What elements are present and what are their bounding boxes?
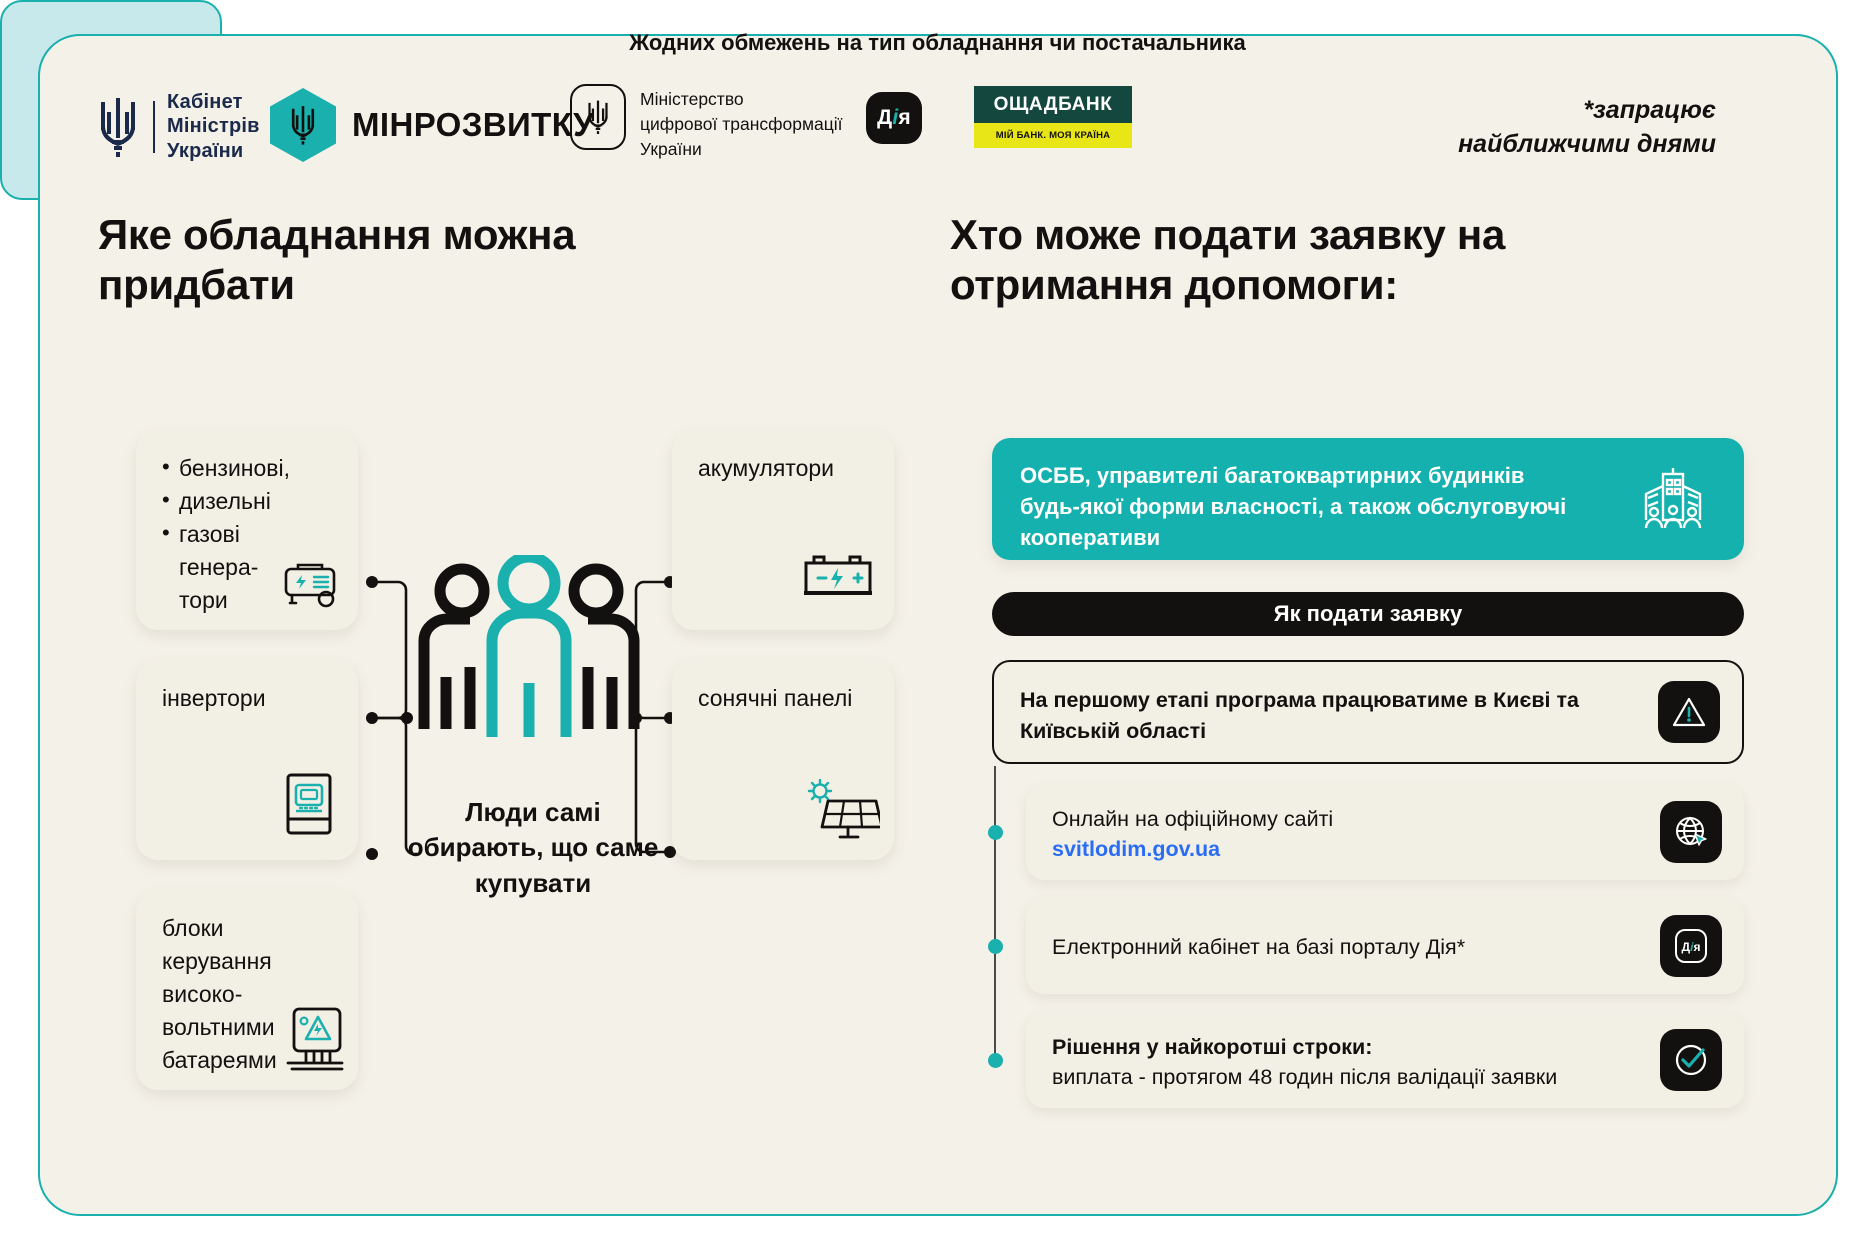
warning-triangle-icon bbox=[1658, 681, 1720, 743]
equipment-card-solar-panels: сонячні панелі bbox=[672, 660, 894, 860]
inverters-card-text: інвертори bbox=[162, 682, 342, 715]
left-column-heading: Яке обладнання можна придбати bbox=[98, 210, 738, 311]
list-item: газові bbox=[162, 518, 342, 551]
how-to-apply-label: Як подати заявку bbox=[1274, 601, 1462, 627]
oschadbank-name: ОЩАДБАНК bbox=[974, 86, 1132, 123]
timeline-dot bbox=[988, 1053, 1003, 1068]
eligibility-text: ОСББ, управителі багатоквартирних будинк… bbox=[1020, 460, 1580, 554]
equipment-card-generators: бензинові, дизельні газові генера- тори bbox=[136, 430, 358, 630]
oschadbank-logo: ОЩАДБАНК МІЙ БАНК. МОЯ КРАЇНА bbox=[974, 86, 1132, 148]
step-card-decision[interactable]: Рішення у найкоротші строки: виплата - п… bbox=[1026, 1012, 1744, 1108]
solar-panel-icon bbox=[798, 779, 880, 846]
ministry-digital-transformation-logo: Міністерство цифрової трансформації Укра… bbox=[570, 84, 843, 162]
step-card-diia-cabinet[interactable]: Електронний кабінет на базі порталу Дія*… bbox=[1026, 898, 1744, 994]
footnote-note: *запрацює найближчими днями bbox=[1458, 94, 1716, 161]
svg-text:Дія: Дія bbox=[1682, 940, 1701, 954]
solar-panels-card-text: сонячні панелі bbox=[698, 682, 878, 715]
logo-divider bbox=[153, 101, 155, 153]
generators-bullet-list: бензинові, дизельні газові bbox=[162, 452, 342, 551]
timeline-dot bbox=[988, 939, 1003, 954]
steps-timeline bbox=[994, 766, 996, 1054]
online-step-text: Онлайн на офіційному сайті svitlodim.gov… bbox=[1052, 804, 1632, 864]
cabinet-of-ministers-logo: Кабінет Міністрів України bbox=[95, 90, 260, 163]
ministry-logo-text: Міністерство цифрової трансформації Укра… bbox=[640, 84, 843, 162]
connector-left bbox=[360, 520, 420, 940]
generator-icon bbox=[278, 557, 344, 614]
step-card-stage-one: На першому етапі програма працюватиме в … bbox=[992, 660, 1744, 764]
ukraine-trident-hex-icon bbox=[270, 88, 336, 162]
ukraine-trident-icon bbox=[570, 84, 626, 150]
diia-label: Дія bbox=[877, 106, 911, 130]
right-column-heading: Хто може подати заявку на отримання допо… bbox=[950, 210, 1630, 311]
accumulators-card-text: акумулятори bbox=[698, 452, 878, 485]
stage-one-text: На першому етапі програма працюватиме в … bbox=[1020, 685, 1580, 746]
diia-app-icon: Дія bbox=[866, 92, 922, 144]
step-card-online[interactable]: Онлайн на офіційному сайті svitlodim.gov… bbox=[1026, 784, 1744, 880]
eligibility-box: ОСББ, управителі багатоквартирних будинк… bbox=[992, 438, 1744, 560]
check-circle-icon bbox=[1660, 1029, 1722, 1091]
infographic-page: Кабінет Міністрів України МІНРОЗВИТКУ bbox=[0, 0, 1875, 1250]
high-voltage-icon bbox=[280, 1007, 350, 1076]
svitlodim-link[interactable]: svitlodim.gov.ua bbox=[1052, 834, 1632, 864]
equipment-card-battery-control: блоки керування високо- вольтними батаре… bbox=[136, 890, 358, 1090]
how-to-apply-bar: Як подати заявку bbox=[992, 592, 1744, 636]
globe-cursor-icon bbox=[1660, 801, 1722, 863]
decision-step-text: Рішення у найкоротші строки: виплата - п… bbox=[1052, 1032, 1632, 1092]
ukraine-trident-icon bbox=[95, 96, 141, 158]
diia-step-text: Електронний кабінет на базі порталу Дія* bbox=[1052, 932, 1632, 962]
apartment-building-icon bbox=[1636, 464, 1710, 543]
decision-title: Рішення у найкоротші строки: bbox=[1052, 1032, 1632, 1062]
equipment-card-accumulators: акумулятори bbox=[672, 430, 894, 630]
diia-app-icon: Дія bbox=[1660, 915, 1722, 977]
inverter-icon bbox=[282, 771, 336, 842]
list-item: бензинові, bbox=[162, 452, 342, 485]
cabinet-logo-text: Кабінет Міністрів України bbox=[167, 90, 260, 163]
equipment-card-inverters: інвертори bbox=[136, 660, 358, 860]
car-battery-icon bbox=[800, 551, 876, 608]
header-logos: Кабінет Міністрів України МІНРОЗВИТКУ bbox=[0, 76, 1800, 186]
no-restrictions-text: Жодних обмежень на тип обладнання чи пос… bbox=[14, 28, 1861, 58]
oschadbank-slogan: МІЙ БАНК. МОЯ КРАЇНА bbox=[974, 123, 1132, 148]
minrozvytku-label: МІНРОЗВИТКУ bbox=[352, 106, 594, 144]
minrozvytku-logo: МІНРОЗВИТКУ bbox=[270, 88, 594, 162]
timeline-dot bbox=[988, 825, 1003, 840]
list-item: дизельні bbox=[162, 485, 342, 518]
